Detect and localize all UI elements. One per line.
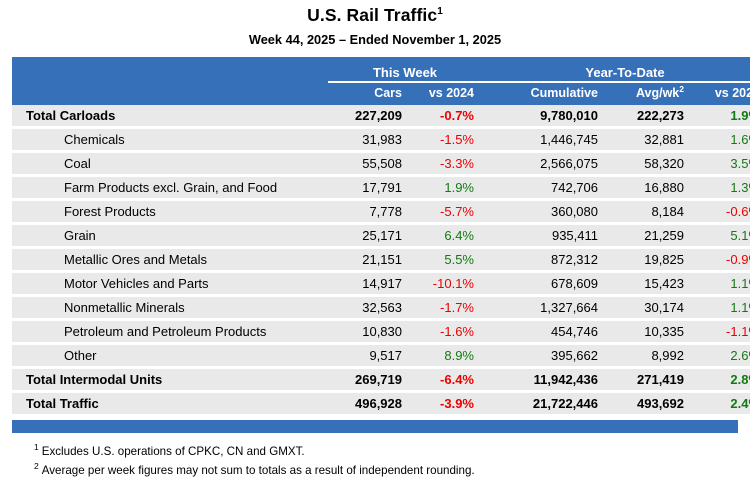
footnote: 1Excludes U.S. operations of CPKC, CN an… xyxy=(34,442,750,461)
row-week-vs-2024: 6.4% xyxy=(410,224,482,248)
row-avg-wk: 8,184 xyxy=(606,200,692,224)
row-week-vs-2024: -5.7% xyxy=(410,200,482,224)
row-ytd-vs-2024: -0.9% xyxy=(692,248,750,272)
page-subtitle: Week 44, 2025 – Ended November 1, 2025 xyxy=(0,32,750,48)
row-cumulative: 454,746 xyxy=(482,320,606,344)
row-week-vs-2024: -1.7% xyxy=(410,296,482,320)
row-cars: 14,917 xyxy=(328,272,410,296)
row-week-vs-2024: -6.4% xyxy=(410,368,482,392)
row-ytd-vs-2024: 5.1% xyxy=(692,224,750,248)
row-cumulative: 872,312 xyxy=(482,248,606,272)
row-cumulative: 2,566,075 xyxy=(482,152,606,176)
row-ytd-vs-2024: 2.8% xyxy=(692,368,750,392)
table-row: Total Carloads227,209-0.7%9,780,010222,2… xyxy=(12,105,750,128)
row-week-vs-2024: -1.6% xyxy=(410,320,482,344)
footnote-text: Average per week figures may not sum to … xyxy=(42,464,475,477)
row-label: Coal xyxy=(12,152,328,176)
row-week-vs-2024: 8.9% xyxy=(410,344,482,368)
row-label: Metallic Ores and Metals xyxy=(12,248,328,272)
group-header-year-to-date: Year-To-Date xyxy=(482,57,750,82)
column-header-cumulative: Cumulative xyxy=(482,82,606,105)
footnote: 2Average per week figures may not sum to… xyxy=(34,461,750,480)
row-cumulative: 678,609 xyxy=(482,272,606,296)
row-label: Chemicals xyxy=(12,128,328,152)
row-cumulative: 360,080 xyxy=(482,200,606,224)
rail-traffic-table-wrap: This Week Year-To-Date Cars vs 2024 Cumu… xyxy=(12,57,738,417)
row-week-vs-2024: -3.9% xyxy=(410,392,482,416)
column-header-avg-wk-footnote-marker: 2 xyxy=(679,84,684,94)
table-row: Grain25,1716.4%935,41121,2595.1% xyxy=(12,224,750,248)
table-row: Metallic Ores and Metals21,1515.5%872,31… xyxy=(12,248,750,272)
table-body: Total Carloads227,209-0.7%9,780,010222,2… xyxy=(12,105,750,416)
row-avg-wk: 16,880 xyxy=(606,176,692,200)
row-ytd-vs-2024: 2.6% xyxy=(692,344,750,368)
row-cumulative: 21,722,446 xyxy=(482,392,606,416)
table-row: Total Intermodal Units269,719-6.4%11,942… xyxy=(12,368,750,392)
row-cars: 10,830 xyxy=(328,320,410,344)
row-label: Grain xyxy=(12,224,328,248)
row-week-vs-2024: -0.7% xyxy=(410,105,482,128)
row-cars: 25,171 xyxy=(328,224,410,248)
table-row: Forest Products7,778-5.7%360,0808,184-0.… xyxy=(12,200,750,224)
row-label: Total Traffic xyxy=(12,392,328,416)
row-cars: 7,778 xyxy=(328,200,410,224)
row-cars: 227,209 xyxy=(328,105,410,128)
page-title-text: U.S. Rail Traffic xyxy=(307,5,437,25)
column-header-row: Cars vs 2024 Cumulative Avg/wk2 vs 2024 xyxy=(12,82,750,105)
row-cars: 31,983 xyxy=(328,128,410,152)
row-label: Farm Products excl. Grain, and Food xyxy=(12,176,328,200)
row-cars: 55,508 xyxy=(328,152,410,176)
row-label: Total Intermodal Units xyxy=(12,368,328,392)
row-ytd-vs-2024: 2.4% xyxy=(692,392,750,416)
column-header-category xyxy=(12,82,328,105)
row-avg-wk: 58,320 xyxy=(606,152,692,176)
row-cars: 21,151 xyxy=(328,248,410,272)
row-cars: 9,517 xyxy=(328,344,410,368)
row-avg-wk: 21,259 xyxy=(606,224,692,248)
row-label: Nonmetallic Minerals xyxy=(12,296,328,320)
row-avg-wk: 271,419 xyxy=(606,368,692,392)
page-title: U.S. Rail Traffic1 xyxy=(0,5,750,26)
row-week-vs-2024: 5.5% xyxy=(410,248,482,272)
table-head: This Week Year-To-Date Cars vs 2024 Cumu… xyxy=(12,57,750,105)
footnote-text: Excludes U.S. operations of CPKC, CN and… xyxy=(42,445,305,458)
row-ytd-vs-2024: 1.1% xyxy=(692,296,750,320)
row-avg-wk: 15,423 xyxy=(606,272,692,296)
row-label: Petroleum and Petroleum Products xyxy=(12,320,328,344)
row-avg-wk: 493,692 xyxy=(606,392,692,416)
row-label: Forest Products xyxy=(12,200,328,224)
footnotes: 1Excludes U.S. operations of CPKC, CN an… xyxy=(34,442,750,480)
rail-traffic-report: U.S. Rail Traffic1 Week 44, 2025 – Ended… xyxy=(0,0,750,444)
row-week-vs-2024: -10.1% xyxy=(410,272,482,296)
column-header-avg-wk-text: Avg/wk xyxy=(636,86,679,100)
row-week-vs-2024: 1.9% xyxy=(410,176,482,200)
table-row: Chemicals31,983-1.5%1,446,74532,8811.6% xyxy=(12,128,750,152)
title-block: U.S. Rail Traffic1 Week 44, 2025 – Ended… xyxy=(0,0,750,48)
row-week-vs-2024: -3.3% xyxy=(410,152,482,176)
row-cars: 32,563 xyxy=(328,296,410,320)
table-row: Petroleum and Petroleum Products10,830-1… xyxy=(12,320,750,344)
footnote-marker: 2 xyxy=(34,461,39,471)
row-cumulative: 935,411 xyxy=(482,224,606,248)
row-cars: 496,928 xyxy=(328,392,410,416)
row-avg-wk: 8,992 xyxy=(606,344,692,368)
page-title-footnote-marker: 1 xyxy=(437,6,443,17)
row-cumulative: 11,942,436 xyxy=(482,368,606,392)
row-avg-wk: 10,335 xyxy=(606,320,692,344)
row-avg-wk: 222,273 xyxy=(606,105,692,128)
row-cars: 17,791 xyxy=(328,176,410,200)
table-row: Other9,5178.9%395,6628,9922.6% xyxy=(12,344,750,368)
row-avg-wk: 30,174 xyxy=(606,296,692,320)
row-avg-wk: 19,825 xyxy=(606,248,692,272)
table-row: Total Traffic496,928-3.9%21,722,446493,6… xyxy=(12,392,750,416)
group-header-this-week: This Week xyxy=(328,57,482,82)
table-row: Coal55,508-3.3%2,566,07558,3203.5% xyxy=(12,152,750,176)
table-row: Farm Products excl. Grain, and Food17,79… xyxy=(12,176,750,200)
column-header-week-vs-2024: vs 2024 xyxy=(410,82,482,105)
row-ytd-vs-2024: -0.6% xyxy=(692,200,750,224)
row-avg-wk: 32,881 xyxy=(606,128,692,152)
row-label: Motor Vehicles and Parts xyxy=(12,272,328,296)
row-cumulative: 9,780,010 xyxy=(482,105,606,128)
row-label: Total Carloads xyxy=(12,105,328,128)
rail-traffic-table: This Week Year-To-Date Cars vs 2024 Cumu… xyxy=(12,57,750,417)
table-row: Motor Vehicles and Parts14,917-10.1%678,… xyxy=(12,272,750,296)
row-ytd-vs-2024: 3.5% xyxy=(692,152,750,176)
row-week-vs-2024: -1.5% xyxy=(410,128,482,152)
row-cumulative: 395,662 xyxy=(482,344,606,368)
row-cumulative: 1,327,664 xyxy=(482,296,606,320)
row-label: Other xyxy=(12,344,328,368)
group-header-spacer xyxy=(12,57,328,82)
row-ytd-vs-2024: 1.1% xyxy=(692,272,750,296)
row-ytd-vs-2024: 1.9% xyxy=(692,105,750,128)
table-row: Nonmetallic Minerals32,563-1.7%1,327,664… xyxy=(12,296,750,320)
column-header-ytd-vs-2024: vs 2024 xyxy=(692,82,750,105)
row-ytd-vs-2024: 1.3% xyxy=(692,176,750,200)
row-cumulative: 1,446,745 xyxy=(482,128,606,152)
row-ytd-vs-2024: 1.6% xyxy=(692,128,750,152)
column-header-cars: Cars xyxy=(328,82,410,105)
row-cars: 269,719 xyxy=(328,368,410,392)
column-header-avg-wk: Avg/wk2 xyxy=(606,82,692,105)
group-header-row: This Week Year-To-Date xyxy=(12,57,750,82)
row-ytd-vs-2024: -1.1% xyxy=(692,320,750,344)
row-cumulative: 742,706 xyxy=(482,176,606,200)
table-bottom-bar xyxy=(12,420,738,433)
